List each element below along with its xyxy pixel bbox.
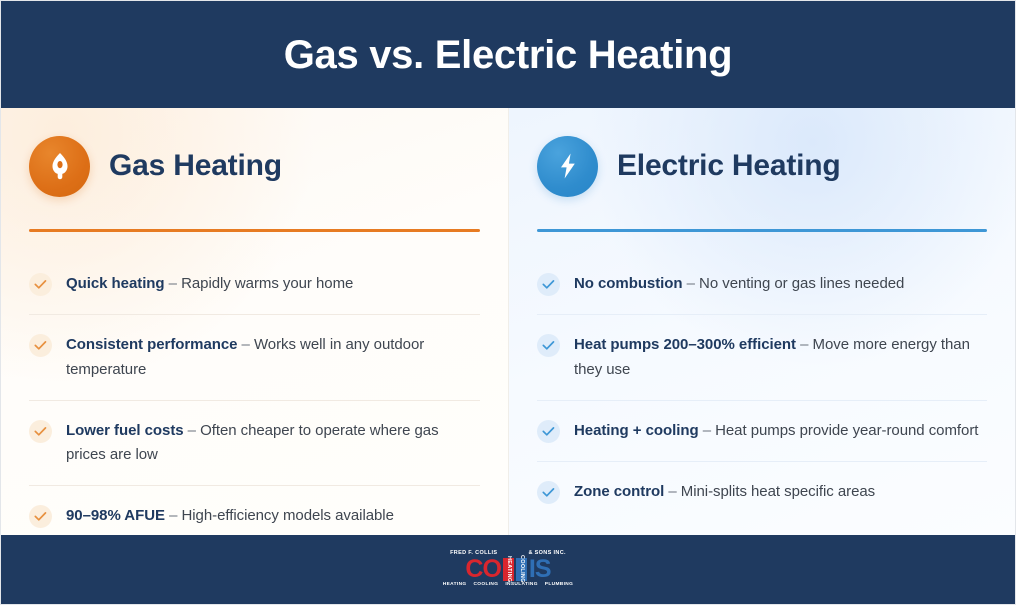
check-icon [537,273,560,296]
gas-feature-list: Quick heating – Rapidly warms your home … [29,254,480,535]
list-item-label: 90–98% AFUE [66,507,165,524]
list-item-text: Heat pumps 200–300% efficient – Move mor… [574,333,987,382]
list-item-text: No combustion – No venting or gas lines … [574,272,904,296]
list-item-desc: Rapidly warms your home [181,275,353,292]
check-icon [537,334,560,357]
list-item-dash: – [664,483,681,500]
column-electric-header: Electric Heating [537,130,987,202]
list-item: Zone control – Mini-splits heat specific… [537,462,987,522]
logo-service-heating: HEATING [443,583,467,588]
list-item-label: Heating + cooling [574,422,699,439]
check-icon [29,505,52,528]
list-item-dash: – [683,275,700,292]
infographic-root: Gas vs. Electric Heating Gas Heating [0,0,1016,605]
list-item-desc: High-efficiency models available [181,507,393,524]
list-item: Heating + cooling – Heat pumps provide y… [537,401,987,462]
logo-service-plumbing: PLUMBING [545,583,573,588]
column-gas-heating: Gas Heating Quick heating – Rapidly warm… [1,108,508,535]
column-electric-heating: Electric Heating No combustion – No vent… [508,108,1015,535]
list-item-dash: – [165,275,182,292]
list-item-dash: – [796,336,813,353]
list-item-desc: Heat pumps provide year-round comfort [715,422,978,439]
comparison-columns: Gas Heating Quick heating – Rapidly warm… [1,108,1015,535]
list-item: 90–98% AFUE – High-efficiency models ava… [29,486,480,535]
list-item-dash: – [699,422,716,439]
logo-word-is: IS [529,558,551,581]
list-item-text: Quick heating – Rapidly warms your home [66,272,353,296]
list-item-dash: – [184,422,201,439]
header-banner: Gas vs. Electric Heating [1,1,1015,108]
company-logo: FRED F. COLLIS & SONS INC. CO HEATING CO… [443,551,573,587]
check-icon [29,420,52,443]
flame-icon [29,136,90,197]
list-item-dash: – [165,507,182,524]
list-item: Consistent performance – Works well in a… [29,315,480,401]
list-item-label: Consistent performance [66,336,237,353]
logo-word-co: CO [465,558,501,581]
column-electric-accent-rule [537,229,987,232]
check-icon [29,273,52,296]
list-item-label: Lower fuel costs [66,422,184,439]
list-item-label: Zone control [574,483,664,500]
list-item: Quick heating – Rapidly warms your home [29,254,480,315]
lightning-bolt-icon [537,136,598,197]
logo-service-insulating: INSULATING [505,583,537,588]
column-gas-accent-rule [29,229,480,232]
check-icon [537,420,560,443]
list-item-desc: Mini-splits heat specific areas [681,483,875,500]
column-gas-header: Gas Heating [29,130,480,202]
column-electric-title: Electric Heating [617,149,841,183]
list-item-text: Consistent performance – Works well in a… [66,333,480,382]
list-item-desc: No venting or gas lines needed [699,275,904,292]
footer-banner: FRED F. COLLIS & SONS INC. CO HEATING CO… [1,535,1015,604]
list-item: Lower fuel costs – Often cheaper to oper… [29,401,480,487]
list-item-label: Heat pumps 200–300% efficient [574,336,796,353]
logo-service-cooling: COOLING [473,583,498,588]
list-item-text: Heating + cooling – Heat pumps provide y… [574,419,978,443]
logo-bar-heating: HEATING [503,558,514,581]
page-title: Gas vs. Electric Heating [284,35,733,75]
electric-feature-list: No combustion – No venting or gas lines … [537,254,987,522]
logo-vertical-bars: HEATING COOLING [503,558,527,581]
list-item-text: Zone control – Mini-splits heat specific… [574,480,875,504]
logo-wordmark: CO HEATING COOLING IS [465,558,550,581]
check-icon [29,334,52,357]
check-icon [537,481,560,504]
list-item-label: Quick heating [66,275,165,292]
list-item: Heat pumps 200–300% efficient – Move mor… [537,315,987,401]
list-item-label: No combustion [574,275,683,292]
list-item-text: 90–98% AFUE – High-efficiency models ava… [66,504,394,528]
list-item-dash: – [237,336,254,353]
column-gas-title: Gas Heating [109,149,282,183]
logo-services: HEATING COOLING INSULATING PLUMBING [443,583,573,588]
logo-bar-cooling: COOLING [516,558,527,581]
list-item: No combustion – No venting or gas lines … [537,254,987,315]
list-item-text: Lower fuel costs – Often cheaper to oper… [66,419,480,468]
